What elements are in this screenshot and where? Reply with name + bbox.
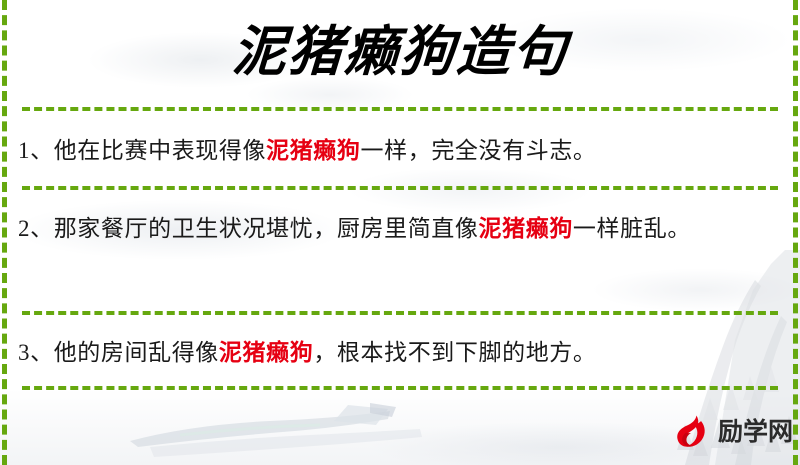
sentence-text-before-1: 他在比赛中表现得像	[54, 138, 266, 163]
sentence-index-1: 1、	[18, 138, 54, 163]
sentence-text-after-1: 一样，完全没有斗志。	[361, 138, 597, 163]
sentence-text-after-2: 一样脏乱。	[573, 216, 691, 241]
ink-wash-watermark-middle	[0, 170, 800, 350]
sentence-text-before-2: 那家餐厅的卫生状况堪忧，厨房里简直像	[54, 216, 479, 241]
page-title: 泥猪癞狗造句	[0, 20, 800, 85]
keyword-highlight-3: 泥猪癞狗	[219, 340, 313, 365]
red-swirl-flame-icon	[672, 412, 712, 452]
sentence-text-before-3: 他的房间乱得像	[54, 340, 219, 365]
keyword-highlight-2: 泥猪癞狗	[479, 216, 573, 241]
example-sentence-3: 3、他的房间乱得像泥猪癞狗，根本找不到下脚的地方。	[18, 332, 776, 373]
sentence-index-2: 2、	[18, 216, 54, 241]
example-sentence-1: 1、他在比赛中表现得像泥猪癞狗一样，完全没有斗志。	[18, 130, 776, 171]
poster-page: 泥猪癞狗造句 1、他在比赛中表现得像泥猪癞狗一样，完全没有斗志。 2、那家餐厅的…	[0, 0, 800, 465]
divider-1	[22, 107, 778, 111]
ink-wash-boat-watermark	[120, 395, 470, 465]
keyword-highlight-1: 泥猪癞狗	[266, 138, 360, 163]
example-sentence-2: 2、那家餐厅的卫生状况堪忧，厨房里简直像泥猪癞狗一样脏乱。	[18, 208, 776, 249]
divider-2	[22, 186, 778, 190]
divider-3	[22, 311, 778, 315]
divider-4	[22, 386, 778, 390]
site-logo[interactable]: 励学网	[672, 412, 793, 452]
site-logo-text: 励学网	[718, 420, 793, 445]
sentence-index-3: 3、	[18, 340, 54, 365]
sentence-text-after-3: ，根本找不到下脚的地方。	[313, 340, 596, 365]
